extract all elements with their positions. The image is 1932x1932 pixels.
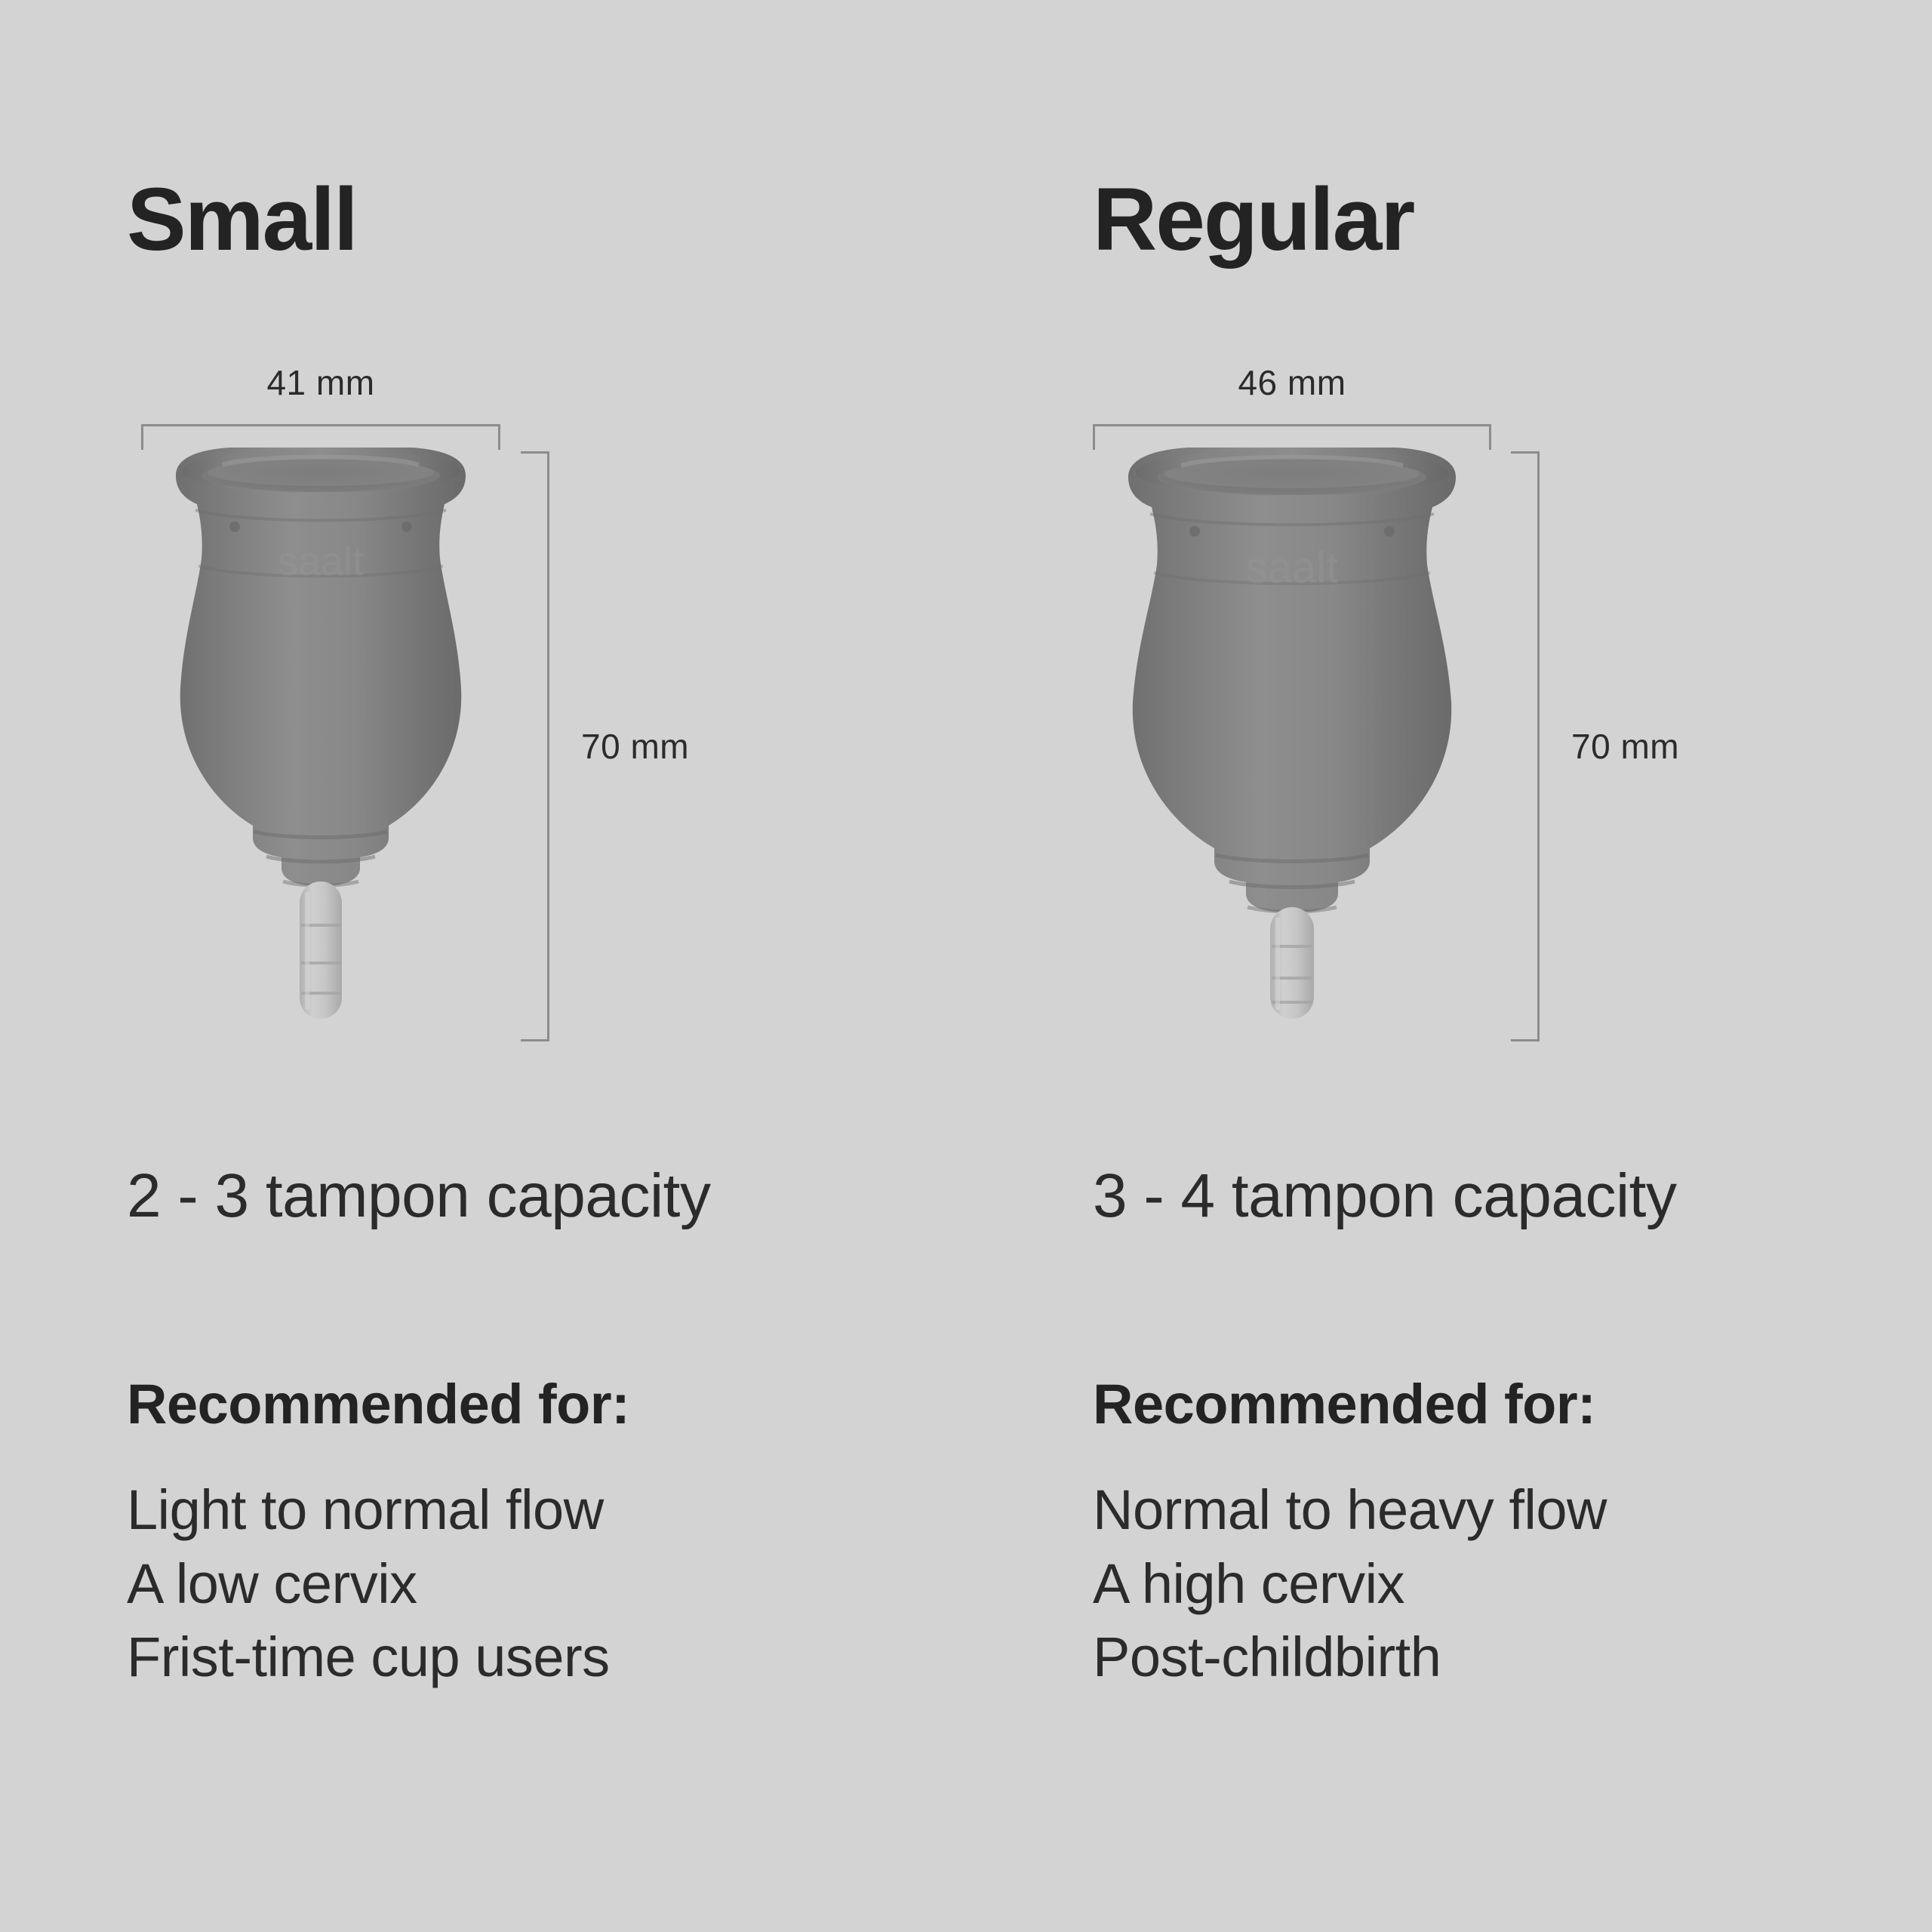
menstrual-cup-illustration-regular: saalt (1115, 445, 1469, 1049)
brand-emboss-regular: saalt (1246, 543, 1339, 592)
cup-body-regular (1128, 448, 1456, 912)
cup-diagram-regular: 46 mm 70 mm (966, 332, 1932, 1087)
size-comparison-board: Small 41 mm 70 mm (0, 0, 1932, 1932)
list-item: Light to normal flow (127, 1473, 610, 1547)
height-dimension-bracket-regular (1511, 451, 1540, 1041)
recommended-list-small: Light to normal flow A low cervix Frist-… (127, 1473, 610, 1694)
list-item: Normal to heavy flow (1093, 1473, 1607, 1547)
brand-emboss-small: saalt (278, 539, 364, 584)
capacity-text-small: 2 - 3 tampon capacity (127, 1162, 710, 1230)
air-hole-regular-left (1189, 526, 1200, 537)
cup-diagram-small: 41 mm 70 mm (0, 332, 966, 1087)
list-item: Post-childbirth (1093, 1620, 1607, 1694)
height-dimension-bracket-small (521, 451, 549, 1041)
list-item: Frist-time cup users (127, 1620, 610, 1694)
height-dimension-label-small: 70 mm (581, 726, 689, 767)
cup-body-small (176, 448, 466, 885)
product-column-regular: Regular 46 mm 70 mm (966, 0, 1932, 1932)
air-hole-regular-right (1384, 526, 1395, 537)
list-item: A high cervix (1093, 1547, 1607, 1621)
recommended-title-small: Recommended for: (127, 1372, 629, 1436)
product-column-small: Small 41 mm 70 mm (0, 0, 966, 1932)
recommended-title-regular: Recommended for: (1093, 1372, 1595, 1436)
size-title-regular: Regular (1093, 175, 1414, 264)
width-dimension-label-small: 41 mm (266, 362, 374, 403)
size-title-small: Small (127, 175, 357, 264)
recommended-list-regular: Normal to heavy flow A high cervix Post-… (1093, 1473, 1607, 1694)
menstrual-cup-illustration-small: saalt (162, 445, 479, 1049)
list-item: A low cervix (127, 1547, 610, 1621)
air-hole-small-right (401, 521, 412, 532)
width-dimension-label-regular: 46 mm (1238, 362, 1346, 403)
height-dimension-label-regular: 70 mm (1571, 726, 1679, 767)
capacity-text-regular: 3 - 4 tampon capacity (1093, 1162, 1676, 1230)
air-hole-small-left (229, 521, 240, 532)
